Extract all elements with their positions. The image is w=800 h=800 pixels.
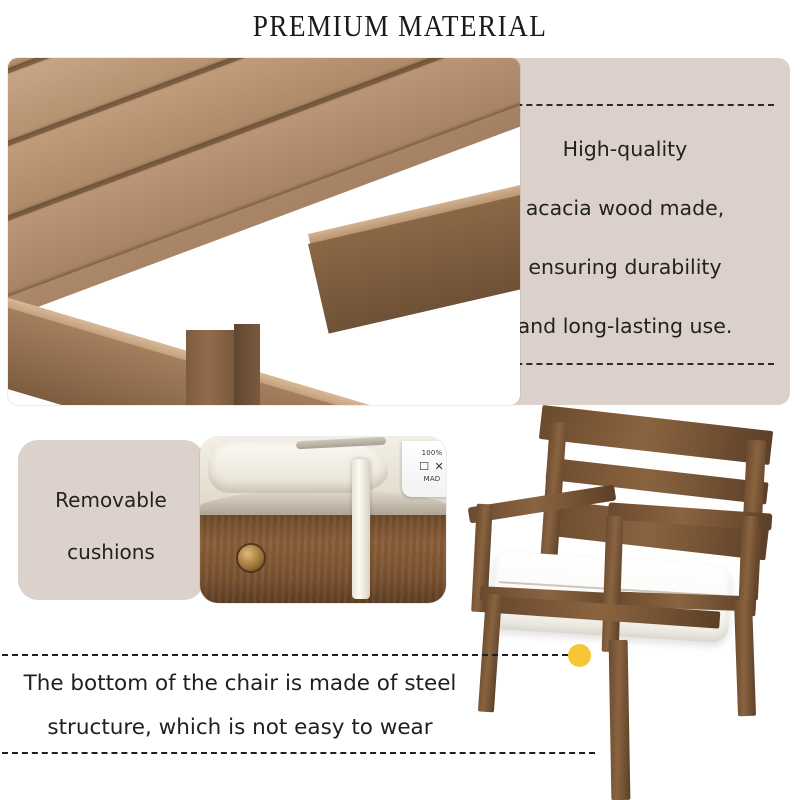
chair-frame-wood: [200, 515, 446, 603]
frame-feature-text: The bottom of the chair is made of steel…: [0, 662, 480, 750]
cushion-feature-text-panel: Removable cushions: [18, 440, 204, 600]
wood-feature-line-1: High-quality: [478, 120, 772, 179]
cushion-fastening-strap: [352, 459, 370, 599]
chair-leg-front-right: [609, 640, 631, 800]
chair-back-top-rail: [539, 405, 773, 465]
brass-screw-icon: [238, 545, 264, 571]
table-apron-left: [8, 290, 520, 405]
table-illustration: [8, 58, 520, 405]
removable-cushion-strap-photo: 100% ☐ ✕ MAD: [200, 437, 446, 603]
wood-feature-line-2: acacia wood made,: [478, 179, 772, 238]
table-leg-side: [234, 324, 260, 405]
page-title: PREMIUM MATERIAL: [48, 8, 752, 44]
caption-dashed-line-top: [2, 654, 578, 656]
dashed-divider-top: [476, 104, 774, 106]
wooden-armchair-with-white-cushion-photo: [440, 404, 800, 800]
wood-feature-text: High-quality acacia wood made, ensuring …: [478, 120, 772, 356]
dashed-divider-bottom: [476, 363, 774, 365]
product-feature-page: PREMIUM MATERIAL High-quality acacia woo…: [0, 0, 800, 800]
acacia-wood-table-corner-photo: [8, 58, 520, 405]
frame-feature-line-2: structure, which is not easy to wear: [0, 706, 480, 750]
cushion-feature-line-1: Removable: [18, 474, 204, 526]
yellow-highlight-dot-icon: [568, 644, 591, 667]
wood-feature-line-4: and long-lasting use.: [478, 297, 772, 356]
cushion-feature-line-2: cushions: [18, 526, 204, 578]
wood-grain-texture: [200, 515, 446, 603]
caption-dashed-line-bottom: [2, 752, 595, 754]
chair-leg-rear-right: [734, 600, 756, 717]
cushion-feature-text: Removable cushions: [18, 474, 204, 578]
frame-feature-line-1: The bottom of the chair is made of steel: [0, 662, 480, 706]
wood-feature-line-3: ensuring durability: [478, 238, 772, 297]
